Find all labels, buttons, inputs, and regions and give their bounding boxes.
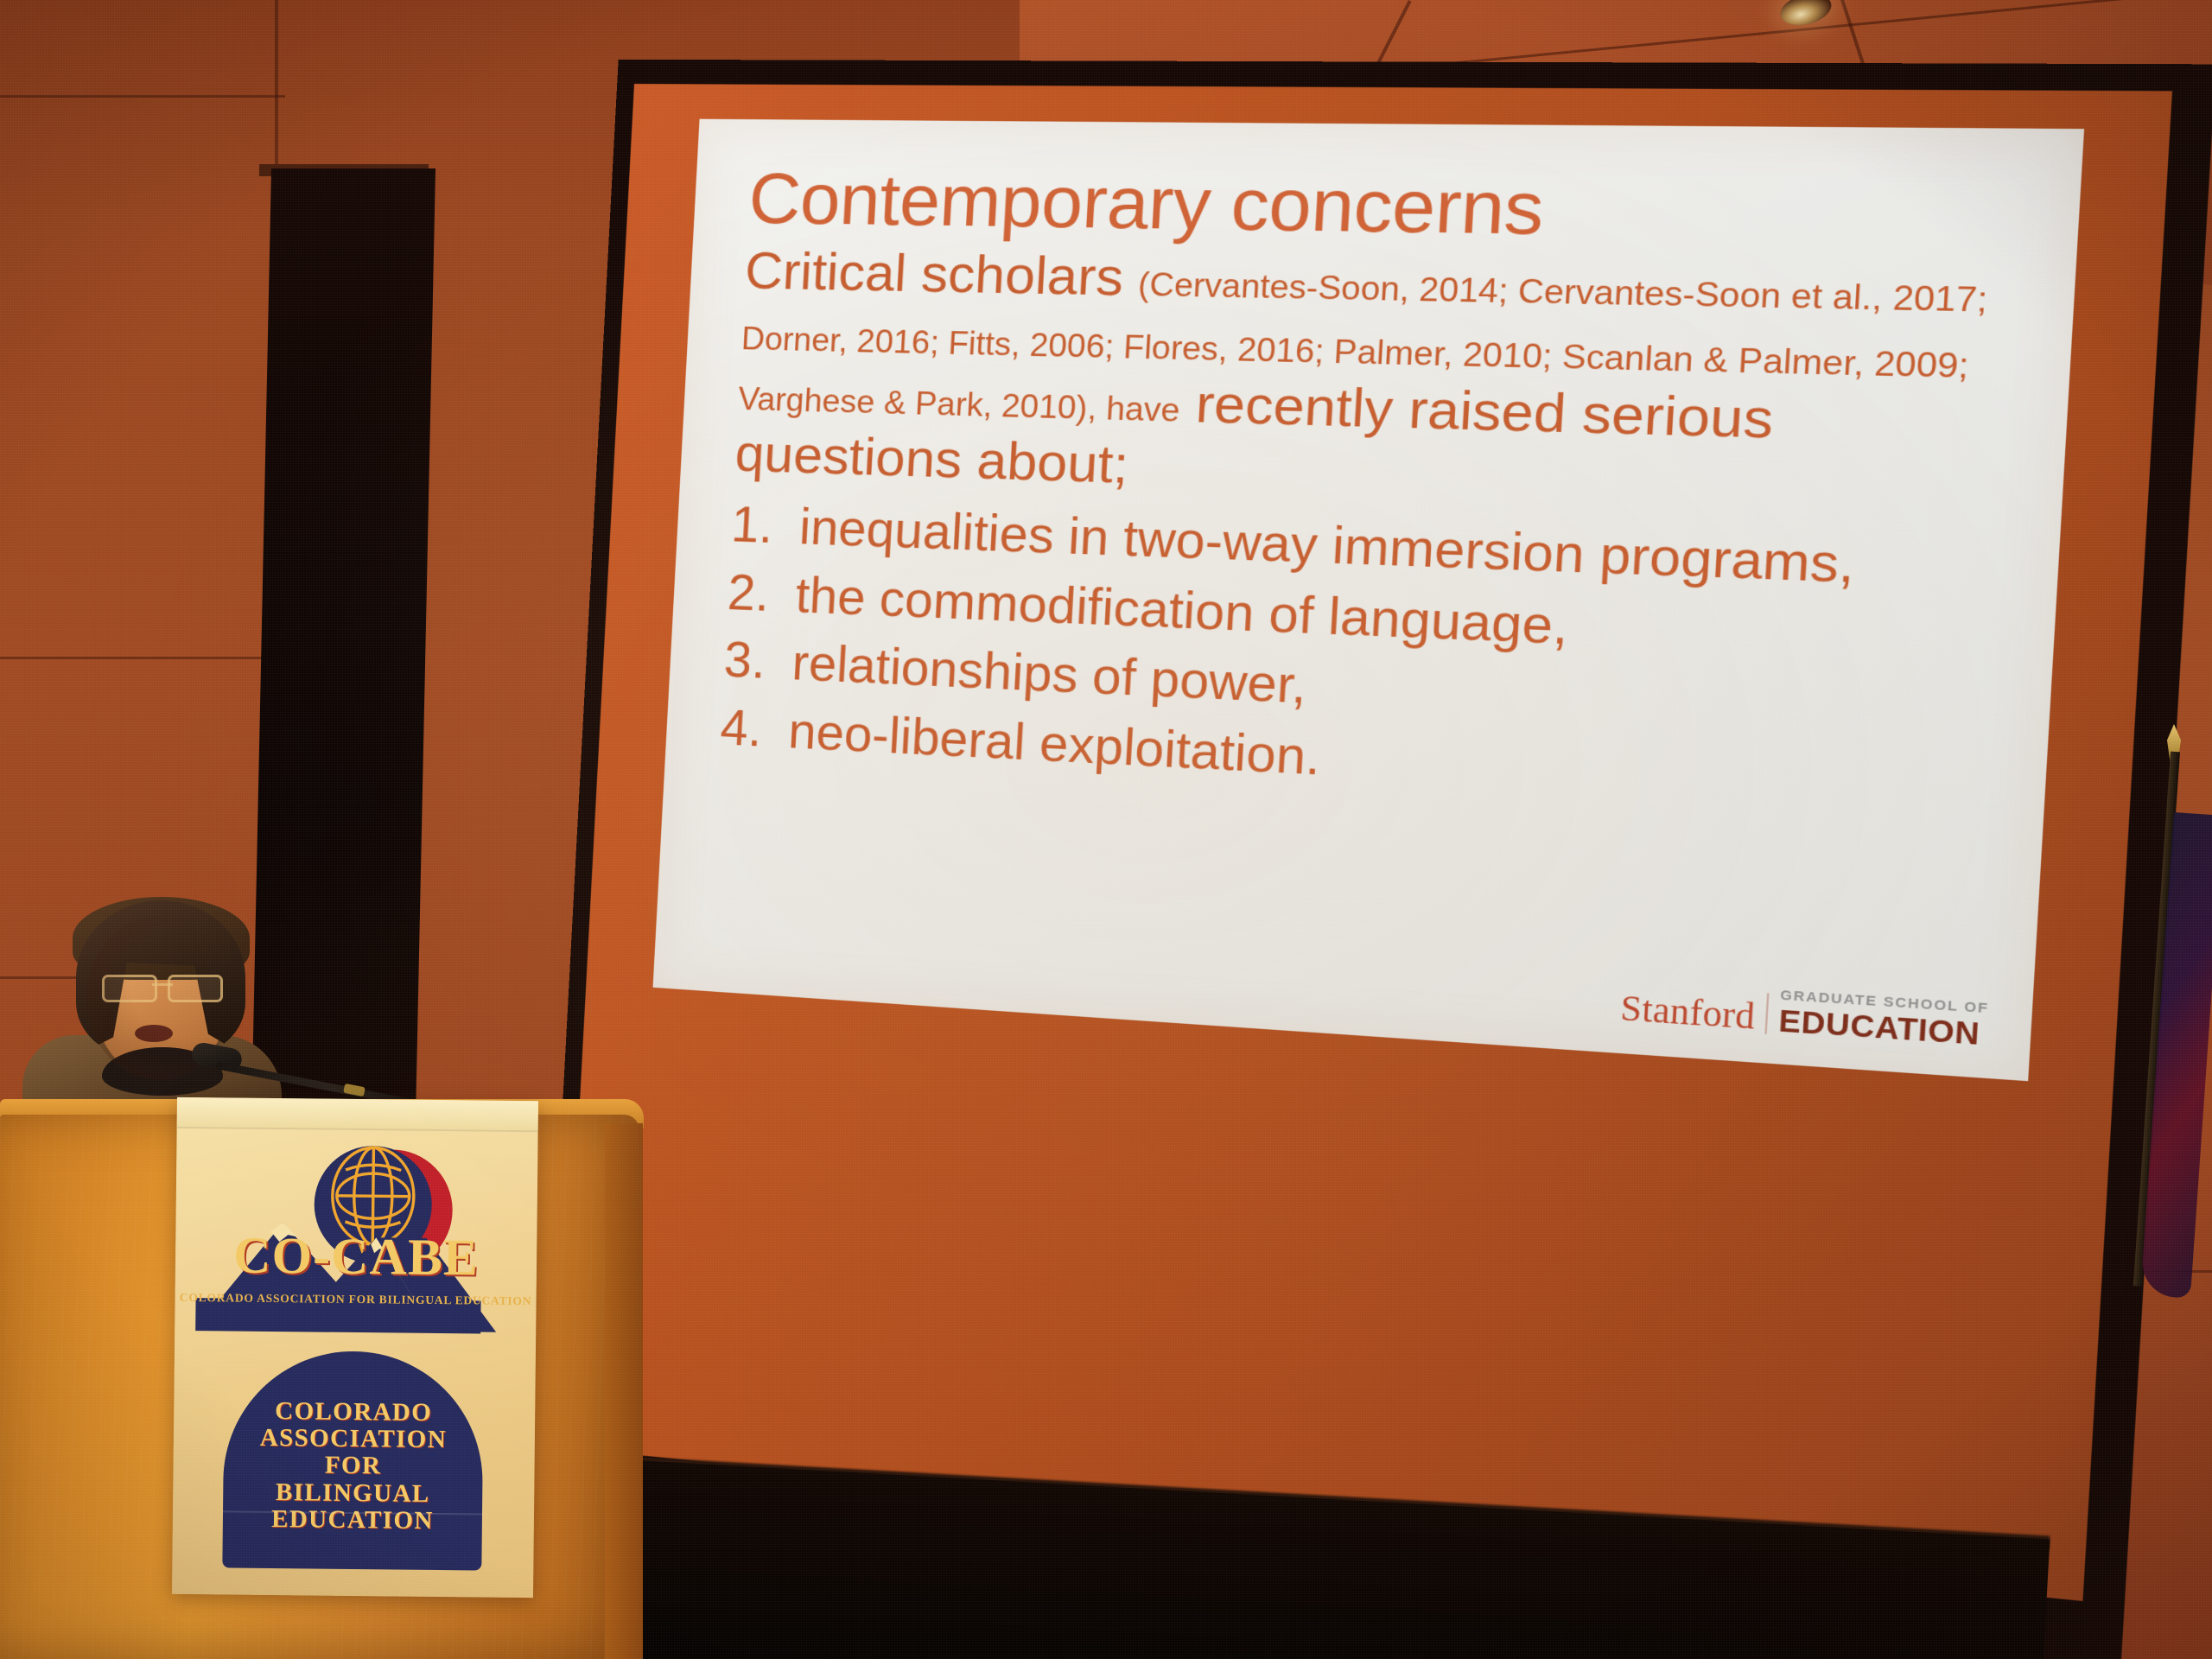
stanford-wordmark: Stanford	[1619, 991, 1756, 1034]
dome-line: BILINGUAL	[276, 1479, 430, 1508]
slide-lead-in: Critical scholars	[744, 241, 1125, 307]
dome-line: ASSOCIATION	[260, 1425, 448, 1453]
presentation-photo-scene: Contemporary concerns Critical scholars …	[0, 0, 2212, 1659]
projection-screen: Contemporary concerns Critical scholars …	[557, 60, 2212, 1659]
wall-panel-seam	[0, 95, 285, 98]
banner-dome: COLORADO ASSOCIATION FOR BILINGUAL EDUCA…	[222, 1350, 484, 1570]
logo-divider	[1765, 993, 1770, 1034]
list-item-number: 3.	[722, 627, 772, 697]
list-item-number: 4.	[719, 695, 768, 765]
screen-surface: Contemporary concerns Critical scholars …	[562, 84, 2172, 1601]
wall-panel-seam	[0, 657, 276, 659]
list-item-number: 2.	[726, 559, 775, 628]
cocabe-banner: CO-CABE COLORADO ASSOCIATION FOR BILINGU…	[172, 1097, 538, 1598]
slide-title: Contemporary concerns	[747, 163, 2046, 255]
dome-line: EDUCATION	[271, 1506, 434, 1535]
stanford-gse-logo: Stanford GRADUATE SCHOOL OF EDUCATION	[1619, 978, 1989, 1050]
slide-numbered-list: 1. inequalities in two-way immersion pro…	[719, 492, 2025, 829]
dome-line: FOR	[325, 1452, 382, 1480]
list-item-number: 1.	[729, 492, 779, 561]
cocabe-crest: CO-CABE COLORADO ASSOCIATION FOR BILINGU…	[175, 1128, 537, 1335]
banner-fold	[177, 1097, 538, 1132]
presentation-slide: Contemporary concerns Critical scholars …	[653, 119, 2085, 1082]
dome-line: COLORADO	[275, 1398, 432, 1427]
podium-side-edge	[605, 1123, 643, 1659]
crest-acronym: CO-CABE	[175, 1225, 537, 1288]
